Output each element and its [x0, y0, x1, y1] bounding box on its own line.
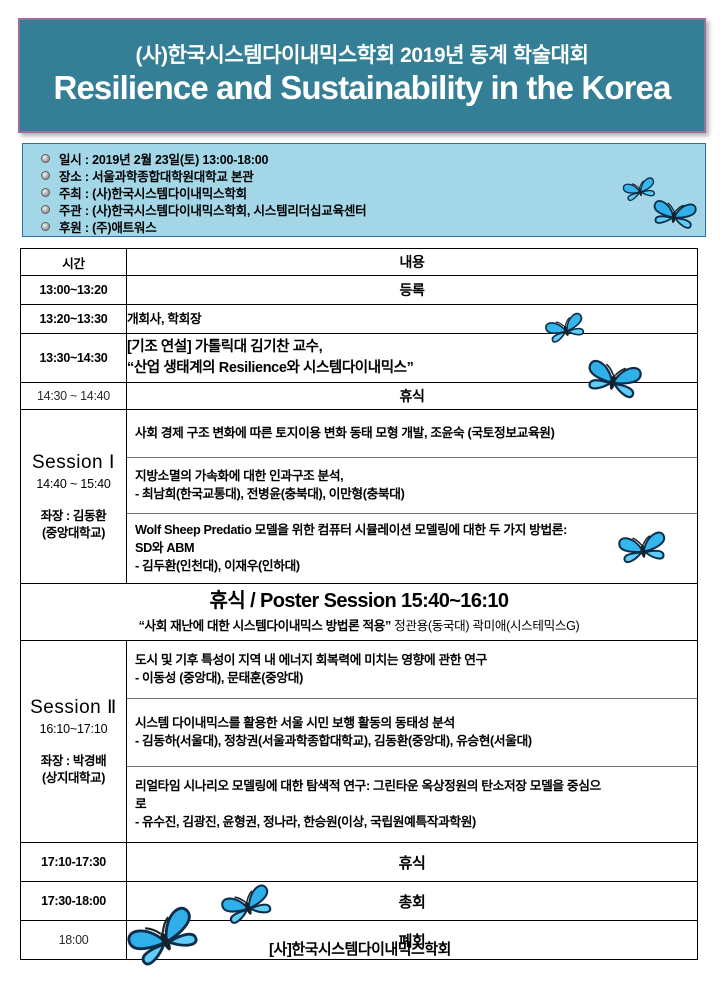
row-content: 휴식 — [127, 843, 698, 882]
paper-row: 시스템 다이내믹스를 활용한 서울 시민 보행 활동의 동태성 분석 - 김동하… — [127, 699, 697, 767]
banner-subtitle: (사)한국시스템다이내믹스학회 2019년 동계 학술대회 — [135, 44, 588, 68]
paper-authors: - 이동성 (중앙대), 문태훈(중앙대) — [135, 669, 689, 687]
info-item-sponsor: 후원 : (주)애트워스 — [41, 218, 705, 235]
paper-row: 리얼타임 시나리오 모델링에 대한 탐색적 연구: 그린타운 옥상정원의 탄소저… — [127, 767, 697, 843]
row-content: 휴식 — [127, 383, 698, 410]
session-1-name: Session Ⅰ — [21, 451, 126, 475]
row-content: 개회사, 학회장 — [127, 305, 698, 334]
poster-session-title: 휴식 / Poster Session 15:40~16:10 — [21, 589, 697, 613]
paper-title: 지방소멸의 가속화에 대한 인과구조 분석, — [135, 467, 689, 485]
paper-cell: 리얼타임 시나리오 모델링에 대한 탐색적 연구: 그린타운 옥상정원의 탄소저… — [127, 767, 697, 843]
paper-cell: 도시 및 기후 특성이 지역 내 에너지 회복력에 미치는 영향에 관한 연구 … — [127, 641, 697, 699]
row-time: 13:20~13:30 — [21, 305, 127, 334]
paper-title: 시스템 다이내믹스를 활용한 서울 시민 보행 활동의 동태성 분석 — [135, 714, 689, 732]
header-time: 시간 — [21, 249, 127, 276]
session-1-papers: 사회 경제 구조 변화에 따른 토지이용 변화 동태 모형 개발, 조윤숙 (국… — [127, 410, 698, 584]
poster-session-subtitle: “사회 재난에 대한 시스템다이내믹스 방법론 적용” 정관용(동국대) 곽미애… — [21, 618, 697, 634]
program-table-wrapper: 시간 내용 13:00~13:20 등록 13:20~13:30 개회사, 학회… — [20, 248, 698, 960]
paper-row: 지방소멸의 가속화에 대한 인과구조 분석, - 최남희(한국교통대), 전병윤… — [127, 458, 697, 514]
info-item-date: 일시 : 2019년 2월 23일(토) 13:00-18:00 — [41, 150, 705, 167]
header-content: 내용 — [127, 249, 698, 276]
bullet-icon — [41, 222, 50, 231]
row-time: 13:30~14:30 — [21, 334, 127, 383]
paper-cell: Wolf Sheep Predatio 모델을 위한 컴퓨터 시뮬레이션 모델링… — [127, 514, 697, 584]
paper-title-cont: 로 — [135, 795, 689, 813]
table-row: 13:20~13:30 개회사, 학회장 — [21, 305, 698, 334]
table-row-poster-session: 휴식 / Poster Session 15:40~16:10 “사회 재난에 … — [21, 584, 698, 641]
banner-title: Resilience and Sustainability in the Kor… — [54, 70, 671, 106]
session-1-label: Session Ⅰ 14:40 ~ 15:40 좌장 : 김동환 (중앙대학교) — [21, 410, 127, 584]
bullet-icon — [41, 171, 50, 180]
bullet-icon — [41, 154, 50, 163]
row-time: 13:00~13:20 — [21, 276, 127, 305]
session-2-paper-table: 도시 및 기후 특성이 지역 내 에너지 회복력에 미치는 영향에 관한 연구 … — [127, 641, 697, 842]
row-content: 총회 — [127, 882, 698, 921]
session-1-paper-table: 사회 경제 구조 변화에 따른 토지이용 변화 동태 모형 개발, 조윤숙 (국… — [127, 410, 697, 583]
info-item-venue: 장소 : 서울과학종합대학원대학교 본관 — [41, 167, 705, 184]
poster-subtitle-authors: 정관용(동국대) 곽미애(시스테믹스G) — [391, 619, 579, 633]
conference-info-box: 일시 : 2019년 2월 23일(토) 13:00-18:00 장소 : 서울… — [22, 143, 706, 237]
session-2-label: Session Ⅱ 16:10~17:10 좌장 : 박경배 (상지대학교) — [21, 641, 127, 843]
poster-subtitle-quote: “사회 재난에 대한 시스템다이내믹스 방법론 적용” — [139, 619, 391, 633]
paper-cell: 사회 경제 구조 변화에 따른 토지이용 변화 동태 모형 개발, 조윤숙 (국… — [127, 410, 697, 458]
table-row: 17:30-18:00 총회 — [21, 882, 698, 921]
paper-row: Wolf Sheep Predatio 모델을 위한 컴퓨터 시뮬레이션 모델링… — [127, 514, 697, 584]
footer-society-name: [사]한국시스템다이내믹스학회 — [0, 938, 720, 959]
keynote-line-2: “산업 생태계의 Resilience와 시스템다이내믹스” — [127, 358, 697, 379]
paper-title-cont: SD와 ABM — [135, 539, 689, 557]
session-1-chair-affil: (중앙대학교) — [21, 525, 126, 542]
row-time: 17:10-17:30 — [21, 843, 127, 882]
paper-cell: 지방소멸의 가속화에 대한 인과구조 분석, - 최남희(한국교통대), 전병윤… — [127, 458, 697, 514]
paper-cell: 시스템 다이내믹스를 활용한 서울 시민 보행 활동의 동태성 분석 - 김동하… — [127, 699, 697, 767]
paper-authors: - 김동하(서울대), 정창권(서울과학종합대학교), 김동환(중앙대), 유승… — [135, 732, 689, 750]
row-time: 14:30 ~ 14:40 — [21, 383, 127, 410]
poster-session-cell: 휴식 / Poster Session 15:40~16:10 “사회 재난에 … — [21, 584, 698, 641]
paper-title: 리얼타임 시나리오 모델링에 대한 탐색적 연구: 그린타운 옥상정원의 탄소저… — [135, 777, 689, 795]
table-row: 14:30 ~ 14:40 휴식 — [21, 383, 698, 410]
table-row-keynote: 13:30~14:30 [기조 연설] 가톨릭대 김기찬 교수, “산업 생태계… — [21, 334, 698, 383]
bullet-icon — [41, 205, 50, 214]
session-1-time: 14:40 ~ 15:40 — [21, 475, 126, 494]
info-item-host: 주최 : (사)한국시스템다이내믹스학회 — [41, 184, 705, 201]
row-content: [기조 연설] 가톨릭대 김기찬 교수, “산업 생태계의 Resilience… — [127, 334, 698, 383]
table-row-session-2: Session Ⅱ 16:10~17:10 좌장 : 박경배 (상지대학교) 도… — [21, 641, 698, 843]
program-table: 시간 내용 13:00~13:20 등록 13:20~13:30 개회사, 학회… — [20, 248, 698, 960]
paper-title: Wolf Sheep Predatio 모델을 위한 컴퓨터 시뮬레이션 모델링… — [135, 521, 689, 539]
session-1-chair: 좌장 : 김동환 (중앙대학교) — [21, 508, 126, 542]
table-row: 13:00~13:20 등록 — [21, 276, 698, 305]
table-row: 17:10-17:30 휴식 — [21, 843, 698, 882]
paper-title: 사회 경제 구조 변화에 따른 토지이용 변화 동태 모형 개발, 조윤숙 (국… — [135, 424, 689, 442]
bullet-icon — [41, 188, 50, 197]
session-2-time: 16:10~17:10 — [21, 720, 126, 739]
paper-row: 사회 경제 구조 변화에 따른 토지이용 변화 동태 모형 개발, 조윤숙 (국… — [127, 410, 697, 458]
session-2-chair: 좌장 : 박경배 (상지대학교) — [21, 753, 126, 787]
paper-row: 도시 및 기후 특성이 지역 내 에너지 회복력에 미치는 영향에 관한 연구 … — [127, 641, 697, 699]
session-2-chair-name: 좌장 : 박경배 — [21, 753, 126, 770]
paper-authors: - 유수진, 김광진, 윤형권, 정나라, 한승원(이상, 국립원예특작과학원) — [135, 813, 689, 831]
info-item-label: 후원 : (주)애트워스 — [59, 217, 157, 236]
session-1-chair-name: 좌장 : 김동환 — [21, 508, 126, 525]
row-time: 17:30-18:00 — [21, 882, 127, 921]
table-row-session-1: Session Ⅰ 14:40 ~ 15:40 좌장 : 김동환 (중앙대학교)… — [21, 410, 698, 584]
table-header-row: 시간 내용 — [21, 249, 698, 276]
session-2-name: Session Ⅱ — [21, 696, 126, 720]
keynote-line-1: [기조 연설] 가톨릭대 김기찬 교수, — [127, 337, 697, 358]
paper-title: 도시 및 기후 특성이 지역 내 에너지 회복력에 미치는 영향에 관한 연구 — [135, 651, 689, 669]
row-content: 등록 — [127, 276, 698, 305]
paper-authors: - 최남희(한국교통대), 전병윤(충북대), 이만형(충북대) — [135, 485, 689, 503]
session-2-papers: 도시 및 기후 특성이 지역 내 에너지 회복력에 미치는 영향에 관한 연구 … — [127, 641, 698, 843]
info-item-organizer: 주관 : (사)한국시스템다이내믹스학회, 시스템리더십교육센터 — [41, 201, 705, 218]
conference-banner: (사)한국시스템다이내믹스학회 2019년 동계 학술대회 Resilience… — [18, 18, 706, 133]
session-2-chair-affil: (상지대학교) — [21, 770, 126, 787]
paper-authors: - 김두환(인천대), 이재우(인하대) — [135, 557, 689, 575]
